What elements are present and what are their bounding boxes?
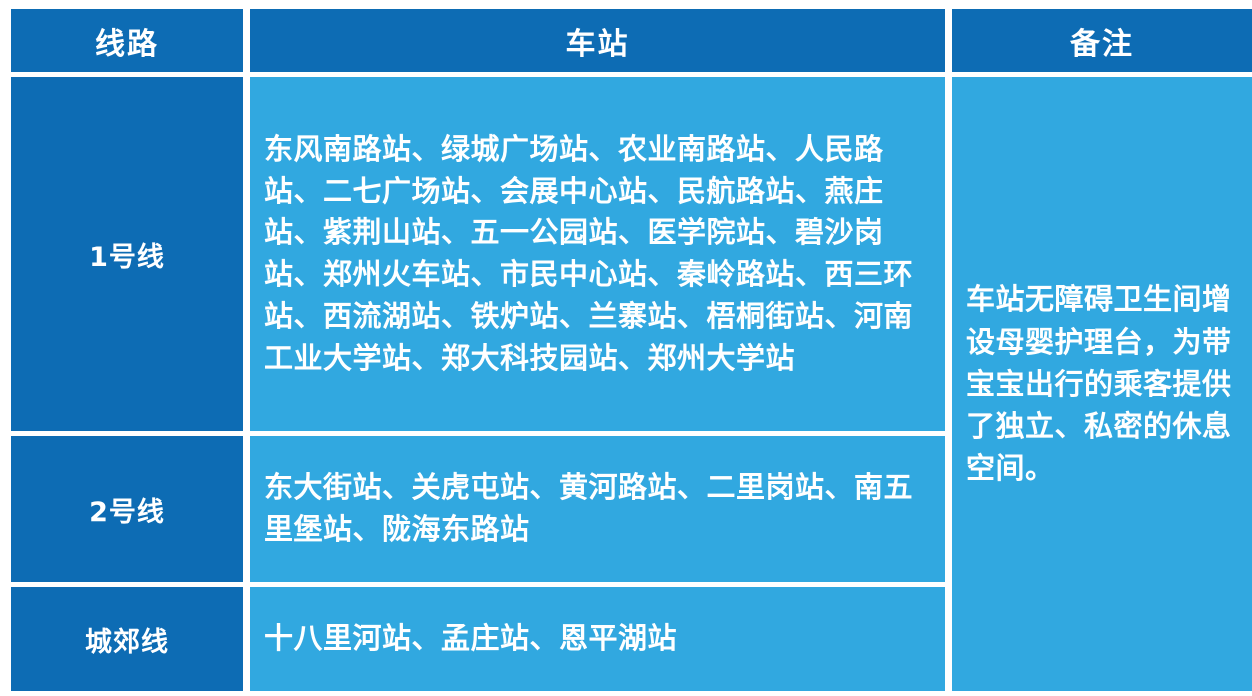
- table-row: 1号线 东风南路站、绿城广场站、农业南路站、人民路站、二七广场站、会展中心站、民…: [11, 77, 1252, 431]
- column-header-station: 车站: [250, 9, 945, 72]
- header-row: 线路 车站 备注: [11, 9, 1252, 72]
- line-name-cell-3: 城郊线: [11, 587, 243, 691]
- remark-cell: 车站无障碍卫生间增设母婴护理台，为带宝宝出行的乘客提供了独立、私密的休息空间。: [952, 77, 1252, 691]
- table-body: 1号线 东风南路站、绿城广场站、农业南路站、人民路站、二七广场站、会展中心站、民…: [11, 77, 1252, 691]
- column-header-remark: 备注: [952, 9, 1252, 72]
- station-list-cell-3: 十八里河站、孟庄站、恩平湖站: [250, 587, 945, 691]
- column-header-line: 线路: [11, 9, 243, 72]
- station-list-cell-1: 东风南路站、绿城广场站、农业南路站、人民路站、二七广场站、会展中心站、民航路站、…: [250, 77, 945, 431]
- station-list-cell-2: 东大街站、关虎屯站、黄河路站、二里岗站、南五里堡站、陇海东路站: [250, 436, 945, 582]
- metro-station-table: 线路 车站 备注 1号线 东风南路站、绿城广场站、农业南路站、人民路站、二七广场…: [4, 4, 1252, 696]
- line-name-cell-2: 2号线: [11, 436, 243, 582]
- metro-station-table-container: 线路 车站 备注 1号线 东风南路站、绿城广场站、农业南路站、人民路站、二七广场…: [0, 0, 1252, 673]
- table-header: 线路 车站 备注: [11, 9, 1252, 72]
- line-name-cell-1: 1号线: [11, 77, 243, 431]
